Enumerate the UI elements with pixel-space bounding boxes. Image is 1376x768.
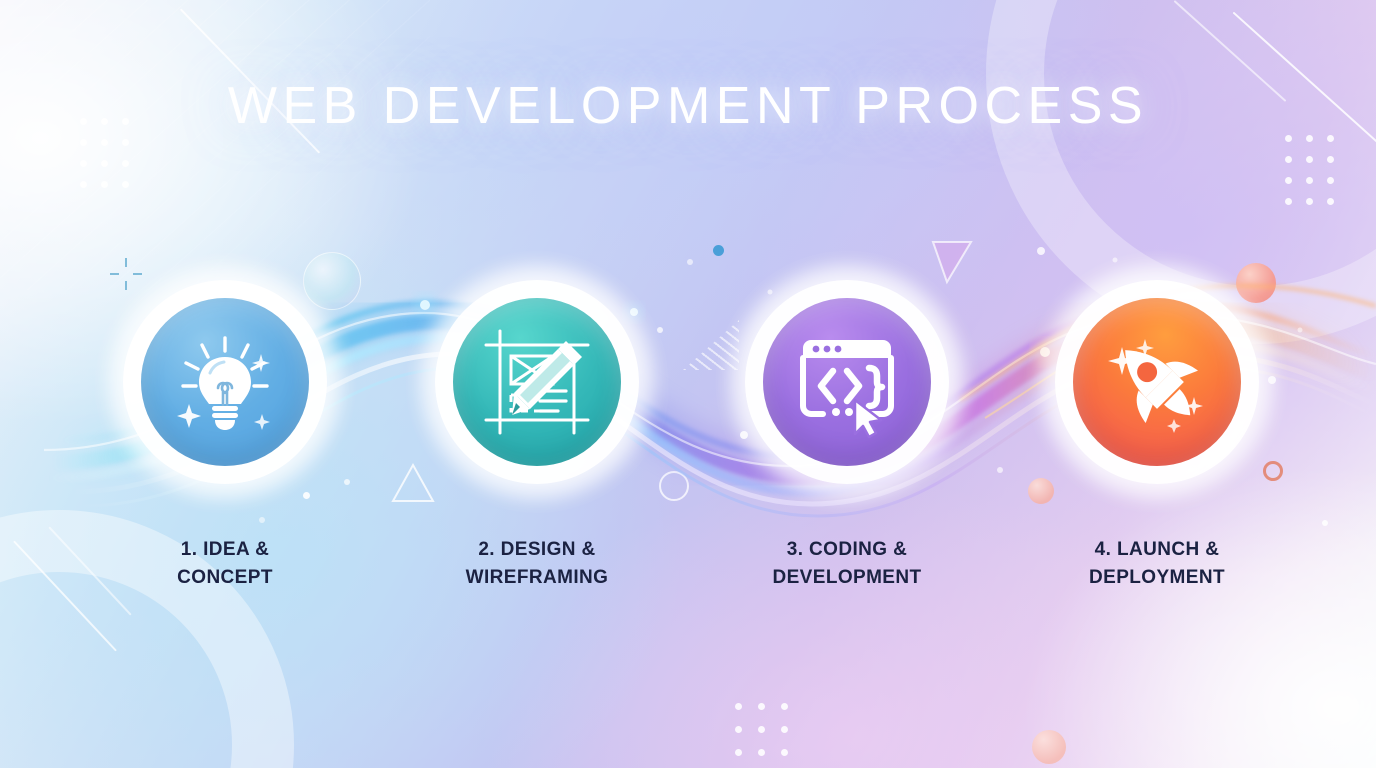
step-4-launch-deployment[interactable]: 4. LAUNCH & DEPLOYMENT — [1032, 280, 1282, 592]
rocket-icon — [1098, 323, 1216, 441]
step-2-design-wireframing[interactable]: 2. DESIGN & WIREFRAMING — [412, 280, 662, 592]
step-1-circle[interactable] — [123, 280, 327, 484]
step-3-coding-development[interactable]: 3. CODING & DEVELOPMENT — [722, 280, 972, 592]
step-2-label: 2. DESIGN & WIREFRAMING — [412, 536, 662, 592]
step-4-disc — [1073, 298, 1241, 466]
step-3-circle[interactable] — [745, 280, 949, 484]
step-2-disc — [453, 298, 621, 466]
step-1-label: 1. IDEA & CONCEPT — [100, 536, 350, 592]
code-window-cursor-icon — [789, 324, 905, 440]
wireframe-pencil-icon — [478, 323, 596, 441]
step-2-circle[interactable] — [435, 280, 639, 484]
page-title: WEB DEVELOPMENT PROCESS — [0, 76, 1376, 136]
step-1-idea-concept[interactable]: 1. IDEA & CONCEPT — [100, 280, 350, 592]
step-4-label: 4. LAUNCH & DEPLOYMENT — [1032, 536, 1282, 592]
step-3-disc — [763, 298, 931, 466]
step-3-label: 3. CODING & DEVELOPMENT — [722, 536, 972, 592]
step-4-circle[interactable] — [1055, 280, 1259, 484]
infographic-canvas: 1. IDEA & CONCEPT — [0, 0, 1376, 768]
step-1-disc — [141, 298, 309, 466]
lightbulb-icon — [169, 326, 281, 438]
